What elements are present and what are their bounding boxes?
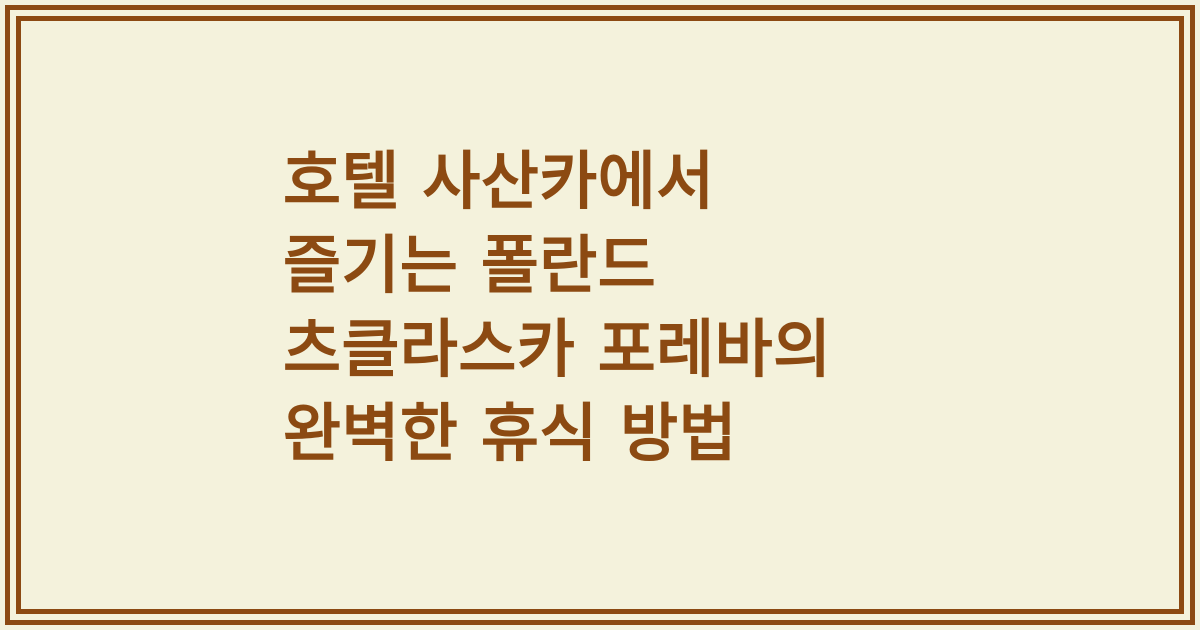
title-line-3: 츠클라스카 포레바의 <box>283 308 983 392</box>
title-line-1: 호텔 사산카에서 <box>283 140 983 224</box>
title-line-2: 즐기는 폴란드 <box>283 224 983 308</box>
title-line-4: 완벽한 휴식 방법 <box>283 392 983 476</box>
poster-canvas: 호텔 사산카에서 즐기는 폴란드 츠클라스카 포레바의 완벽한 휴식 방법 <box>0 0 1200 630</box>
title-block: 호텔 사산카에서 즐기는 폴란드 츠클라스카 포레바의 완벽한 휴식 방법 <box>283 140 983 480</box>
